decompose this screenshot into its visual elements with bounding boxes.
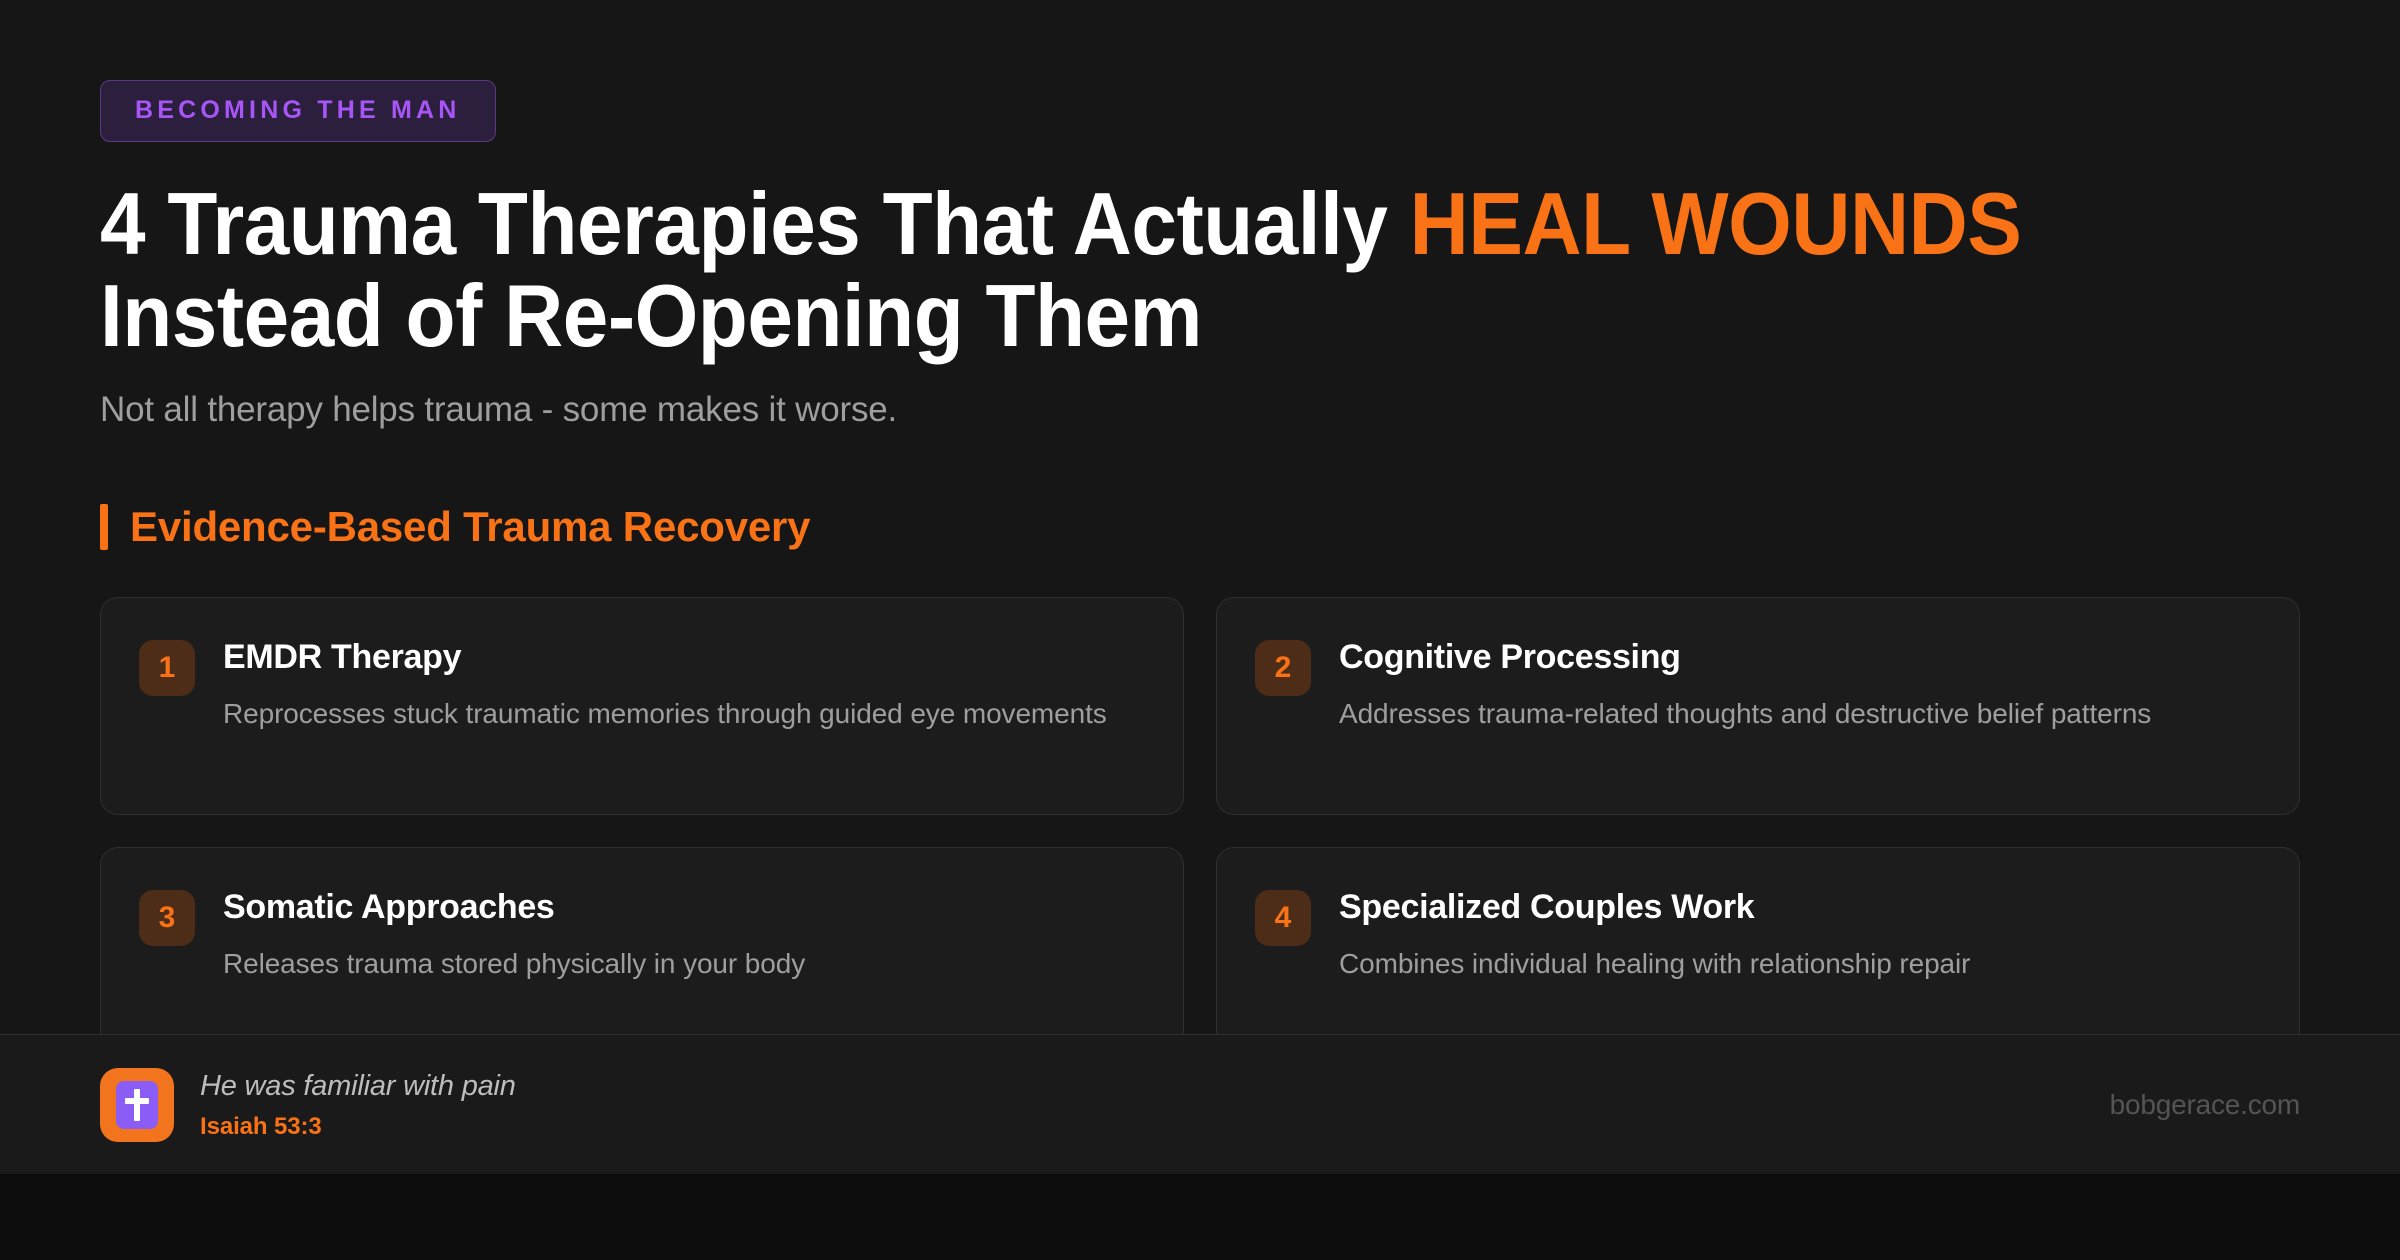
therapy-card: 3 Somatic Approaches Releases trauma sto… [100,847,1184,1034]
card-number-badge: 1 [139,640,195,696]
headline-accent: HEAL WOUNDS [1410,174,2022,273]
therapy-card: 4 Specialized Couples Work Combines indi… [1216,847,2300,1034]
card-body: Cognitive Processing Addresses trauma-re… [1339,638,2259,735]
headline-line-1-plain: 4 Trauma Therapies That Actually [100,174,1410,273]
card-number-badge: 4 [1255,890,1311,946]
card-body: Specialized Couples Work Combines indivi… [1339,888,2259,985]
footer-bar: He was familiar with pain Isaiah 53:3 bo… [0,1034,2400,1174]
section-heading: Evidence-Based Trauma Recovery [100,503,2300,551]
card-description: Combines individual healing with relatio… [1339,944,2259,985]
verse-reference: Isaiah 53:3 [200,1113,516,1141]
verse-block: He was familiar with pain Isaiah 53:3 [200,1068,516,1140]
card-title: Somatic Approaches [223,888,1143,927]
website-label: bobgerace.com [2110,1089,2300,1121]
card-number-badge: 3 [139,890,195,946]
footer-scripture: He was familiar with pain Isaiah 53:3 [100,1068,516,1142]
cross-icon [100,1068,174,1142]
headline-line-2: Instead of Re-Opening Them [100,266,1202,365]
card-description: Releases trauma stored physically in you… [223,944,1143,985]
page-title: 4 Trauma Therapies That Actually HEAL WO… [100,178,2146,361]
therapy-card-grid: 1 EMDR Therapy Reprocesses stuck traumat… [100,597,2300,1034]
card-title: Cognitive Processing [1339,638,2259,677]
section-accent-bar [100,504,108,550]
card-title: Specialized Couples Work [1339,888,2259,927]
cross-icon-glyph [116,1081,158,1129]
section-title: Evidence-Based Trauma Recovery [130,503,810,551]
subtitle: Not all therapy helps trauma - some make… [100,387,2300,433]
card-description: Addresses trauma-related thoughts and de… [1339,694,2259,735]
slide-content: BECOMING THE MAN 4 Trauma Therapies That… [0,0,2400,1034]
eyebrow-badge: BECOMING THE MAN [100,80,496,142]
card-body: Somatic Approaches Releases trauma store… [223,888,1143,985]
therapy-card: 1 EMDR Therapy Reprocesses stuck traumat… [100,597,1184,815]
card-body: EMDR Therapy Reprocesses stuck traumatic… [223,638,1143,735]
verse-text: He was familiar with pain [200,1068,516,1104]
card-title: EMDR Therapy [223,638,1143,677]
bottom-strip [0,1174,2400,1260]
therapy-card: 2 Cognitive Processing Addresses trauma-… [1216,597,2300,815]
card-description: Reprocesses stuck traumatic memories thr… [223,694,1143,735]
card-number-badge: 2 [1255,640,1311,696]
slide-root: BECOMING THE MAN 4 Trauma Therapies That… [0,0,2400,1260]
